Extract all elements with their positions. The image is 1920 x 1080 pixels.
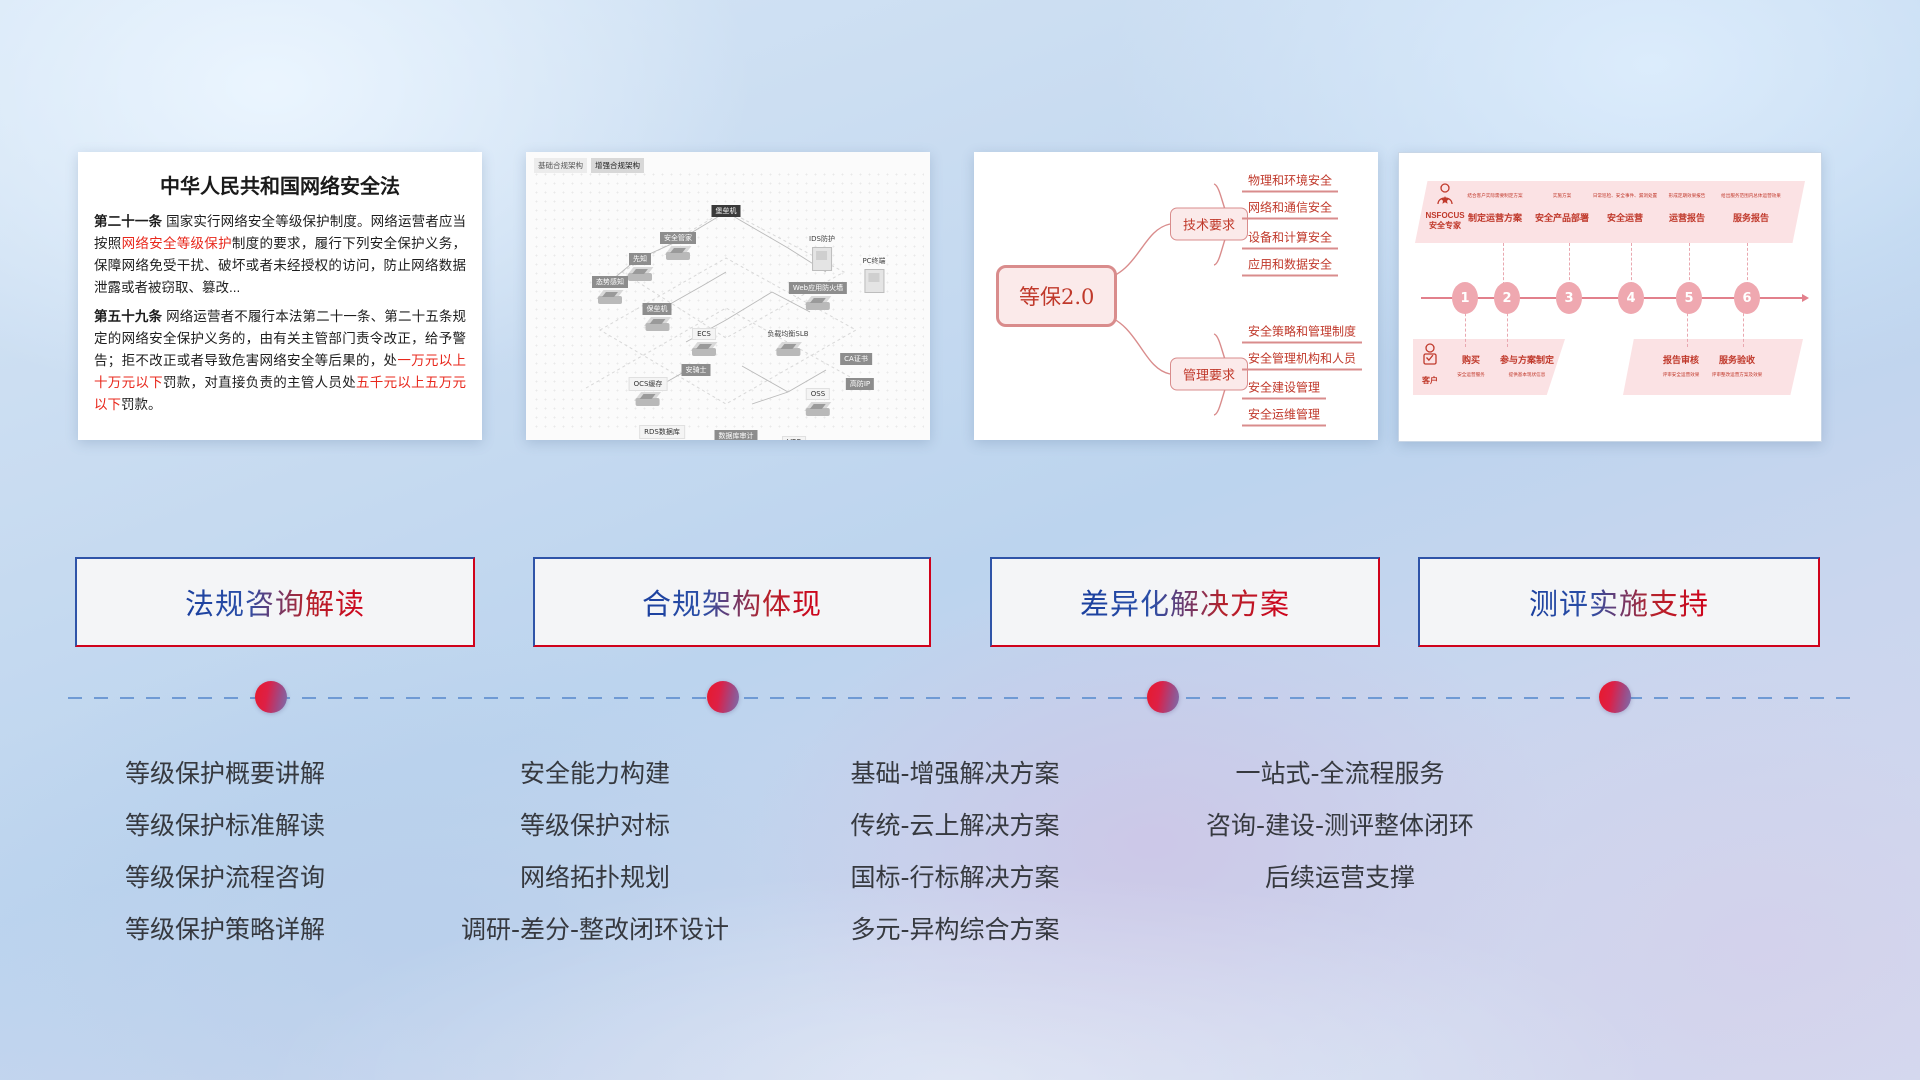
mindmap-leaf-network-communication: 网络和通信安全 — [1242, 199, 1338, 220]
mindmap-leaf-org-personnel: 安全管理机构和人员 — [1242, 350, 1362, 371]
mindmap-leaf-application-data: 应用和数据安全 — [1242, 256, 1338, 277]
list-item: 国标-行标解决方案 — [790, 852, 1120, 904]
detail-list-4: 一站式-全流程服务 咨询-建设-测评整体闭环 后续运营支撑 — [1150, 748, 1530, 904]
top-item-1-small: 结合客户实际需要制定方案 — [1467, 193, 1522, 199]
timeline-dashed-line — [68, 697, 1856, 699]
server-icon — [864, 269, 884, 293]
law-title: 中华人民共和国网络安全法 — [94, 170, 466, 199]
bottom-item-4-main: 服务验收 — [1719, 353, 1755, 366]
top-item-4-main: 运营报告 — [1669, 211, 1705, 224]
card-compliance-architecture[interactable]: 基础合规架构 增强合规架构 — [526, 152, 930, 440]
mindmap-leaf-physical-environment: 物理和环境安全 — [1242, 172, 1338, 193]
service-buttons-row: 法规咨询解读 合规架构体现 差异化解决方案 测评实施支持 — [0, 557, 1920, 649]
top-item-1-main: 制定运营方案 — [1468, 211, 1522, 224]
top-item-3-small: 日常巡检、安全事件、漏洞处置 — [1593, 193, 1657, 199]
customer-band-right — [1623, 339, 1803, 395]
cube-icon — [806, 402, 830, 417]
nsfocus-brand: NSFOCUS 安全专家 — [1425, 211, 1464, 231]
server-icon — [812, 247, 832, 271]
article-59-seg2: 罚款，对直接负责的主管人员处 — [163, 375, 356, 390]
mindmap-leaf-security-policy: 安全策略和管理制度 — [1242, 323, 1362, 344]
button-compliance-architecture[interactable]: 合规架构体现 — [533, 557, 931, 647]
mindmap-branch-technical: 技术要求 — [1170, 208, 1248, 241]
customer-label: 客户 — [1422, 375, 1438, 386]
top-item-4-small: 形成定期效果报告 — [1669, 193, 1706, 199]
node-aegis: 安骑士 — [682, 364, 711, 376]
article-59-label: 第五十九条 — [94, 309, 162, 324]
law-article-59: 第五十九条 网络运营者不履行本法第二十一条、第二十五条规定的网络安全保护义务的，… — [94, 306, 466, 415]
top-item-2-main: 安全产品部署 — [1535, 211, 1589, 224]
node-xianzhi: 先知 — [629, 253, 651, 265]
list-item: 一站式-全流程服务 — [1150, 748, 1530, 800]
node-situational-awareness: 态势感知 — [592, 276, 628, 288]
node-anti-ddos-ip: 高防IP — [846, 378, 874, 390]
card-dengbao-mindmap[interactable]: 等保2.0 技术要求 管理要求 物理和环境安全 网络和通信安全 设备和计算安全 … — [974, 152, 1378, 440]
law-article-21: 第二十一条 国家实行网络安全等级保护制度。网络运营者应当按照网络安全等级保护制度… — [94, 211, 466, 298]
list-item: 网络拓扑规划 — [430, 852, 760, 904]
list-item: 等级保护流程咨询 — [60, 852, 390, 904]
node-ocs-cache: OCS缓存 — [629, 377, 668, 391]
cube-icon — [598, 290, 622, 305]
cube-icon — [806, 296, 830, 311]
mindmap-leaf-device-computing: 设备和计算安全 — [1242, 229, 1338, 250]
button-differentiated-solution-label: 差异化解决方案 — [1080, 581, 1290, 623]
node-web-firewall: Web应用防火墙 — [789, 282, 847, 294]
list-item: 等级保护策略详解 — [60, 904, 390, 956]
bottom-item-2-small: 提供基本现状信息 — [1509, 372, 1546, 378]
article-21-label: 第二十一条 — [94, 214, 162, 229]
list-item: 后续运营支撑 — [1150, 852, 1530, 904]
button-differentiated-solution[interactable]: 差异化解决方案 — [990, 557, 1380, 647]
list-item: 等级保护标准解读 — [60, 800, 390, 852]
cube-icon — [666, 246, 690, 261]
preview-cards-row: 中华人民共和国网络安全法 第二十一条 国家实行网络安全等级保护制度。网络运营者应… — [0, 152, 1920, 452]
step-6[interactable]: 6 — [1734, 282, 1760, 314]
node-database-audit: 数据库审计 — [715, 430, 758, 440]
node-bastion-host: 堡垒机 — [712, 205, 741, 217]
button-assessment-support-label: 测评实施支持 — [1529, 581, 1709, 623]
node-rds-database: RDS数据库 — [639, 425, 685, 439]
detail-list-1: 等级保护概要讲解 等级保护标准解读 等级保护流程咨询 等级保护策略详解 — [60, 748, 390, 956]
architecture-connectors — [526, 152, 930, 440]
dash-connector — [1569, 243, 1570, 285]
step-5[interactable]: 5 — [1676, 282, 1702, 314]
nsfocus-brand-name: NSFOCUS — [1425, 211, 1464, 221]
node-pc-terminal: PC终端 — [858, 255, 889, 267]
bottom-item-3-main: 报告审核 — [1663, 353, 1699, 366]
list-item: 咨询-建设-测评整体闭环 — [1150, 800, 1530, 852]
article-21-highlight: 网络安全等级保护 — [122, 236, 232, 251]
cube-icon — [692, 342, 716, 357]
mindmap: 等保2.0 技术要求 管理要求 物理和环境安全 网络和通信安全 设备和计算安全 … — [974, 152, 1378, 440]
list-item: 等级保护对标 — [430, 800, 760, 852]
node-ecs: ECS — [692, 328, 716, 340]
dash-connector — [1631, 243, 1632, 285]
node-vpc: VPC — [782, 436, 806, 440]
button-assessment-support[interactable]: 测评实施支持 — [1418, 557, 1820, 647]
nsfocus-timeline: NSFOCUS 安全专家 客户 结合客户实际需要制定方案 制定运营方案 实施方案… — [1399, 153, 1821, 441]
top-item-5-main: 服务报告 — [1733, 211, 1769, 224]
nsfocus-brand-sub: 安全专家 — [1425, 221, 1464, 231]
list-item: 基础-增强解决方案 — [790, 748, 1120, 800]
button-compliance-architecture-label: 合规架构体现 — [642, 581, 822, 623]
node-security-butler: 安全管家 — [660, 232, 696, 244]
law-text-body: 中华人民共和国网络安全法 第二十一条 国家实行网络安全等级保护制度。网络运营者应… — [78, 152, 482, 440]
node-ids-protection: IDS防护 — [805, 233, 839, 245]
customer-avatar-icon — [1421, 343, 1439, 369]
mindmap-leaf-operation-mgmt: 安全运维管理 — [1242, 406, 1326, 427]
step-1[interactable]: 1 — [1452, 282, 1478, 314]
top-item-2-small: 实施方案 — [1553, 193, 1571, 199]
bottom-item-1-small: 安全运营服务 — [1457, 372, 1485, 378]
list-item: 传统-云上解决方案 — [790, 800, 1120, 852]
mindmap-leaf-construction-mgmt: 安全建设管理 — [1242, 379, 1326, 400]
node-jump-server: 保垒机 — [643, 303, 672, 315]
cube-icon — [645, 317, 669, 332]
step-3[interactable]: 3 — [1556, 282, 1582, 314]
architecture-diagram: 基础合规架构 增强合规架构 — [526, 152, 930, 440]
node-load-balancer: 负载均衡SLB — [763, 328, 812, 340]
node-oss: OSS — [806, 388, 830, 400]
node-ca-certificate: CA证书 — [840, 353, 872, 365]
dash-connector — [1503, 243, 1504, 285]
detail-list-2: 安全能力构建 等级保护对标 网络拓扑规划 调研-差分-整改闭环设计 — [430, 748, 760, 956]
bottom-item-4-small: 评审整改运营方案及效果 — [1712, 372, 1763, 378]
step-4[interactable]: 4 — [1618, 282, 1644, 314]
button-regulation-consulting-label: 法规咨询解读 — [185, 581, 365, 623]
mindmap-root: 等保2.0 — [996, 265, 1117, 327]
list-item: 等级保护概要讲解 — [60, 748, 390, 800]
step-2[interactable]: 2 — [1494, 282, 1520, 314]
timeline-dot-2[interactable] — [707, 681, 739, 713]
article-59-seg3: 罚款。 — [121, 397, 162, 412]
card-nsfocus-service-timeline[interactable]: NSFOCUS 安全专家 客户 结合客户实际需要制定方案 制定运营方案 实施方案… — [1398, 152, 1822, 442]
dash-connector — [1747, 243, 1748, 285]
bottom-item-3-small: 评审安全运营效果 — [1663, 372, 1700, 378]
timeline-dot-4[interactable] — [1599, 681, 1631, 713]
bottom-item-2-main: 参与方案制定 — [1500, 353, 1554, 366]
cube-icon — [636, 392, 660, 407]
bottom-item-1-main: 购买 — [1462, 353, 1480, 366]
top-item-3-main: 安全运营 — [1607, 211, 1643, 224]
timeline-dot-1[interactable] — [255, 681, 287, 713]
cube-icon — [776, 342, 800, 357]
list-item: 安全能力构建 — [430, 748, 760, 800]
detail-lists-row: 等级保护概要讲解 等级保护标准解读 等级保护流程咨询 等级保护策略详解 安全能力… — [0, 748, 1920, 978]
timeline-dot-3[interactable] — [1147, 681, 1179, 713]
list-item: 多元-异构综合方案 — [790, 904, 1120, 956]
list-item: 调研-差分-整改闭环设计 — [430, 904, 760, 956]
cube-icon — [628, 267, 652, 282]
mindmap-branch-management: 管理要求 — [1170, 358, 1248, 391]
card-cybersecurity-law[interactable]: 中华人民共和国网络安全法 第二十一条 国家实行网络安全等级保护制度。网络运营者应… — [78, 152, 482, 440]
expert-avatar-icon — [1435, 183, 1455, 207]
button-regulation-consulting[interactable]: 法规咨询解读 — [75, 557, 475, 647]
dash-connector — [1689, 243, 1690, 285]
top-item-5-small: 给出服务范围内总体运营效果 — [1721, 193, 1781, 199]
detail-list-3: 基础-增强解决方案 传统-云上解决方案 国标-行标解决方案 多元-异构综合方案 — [790, 748, 1120, 956]
